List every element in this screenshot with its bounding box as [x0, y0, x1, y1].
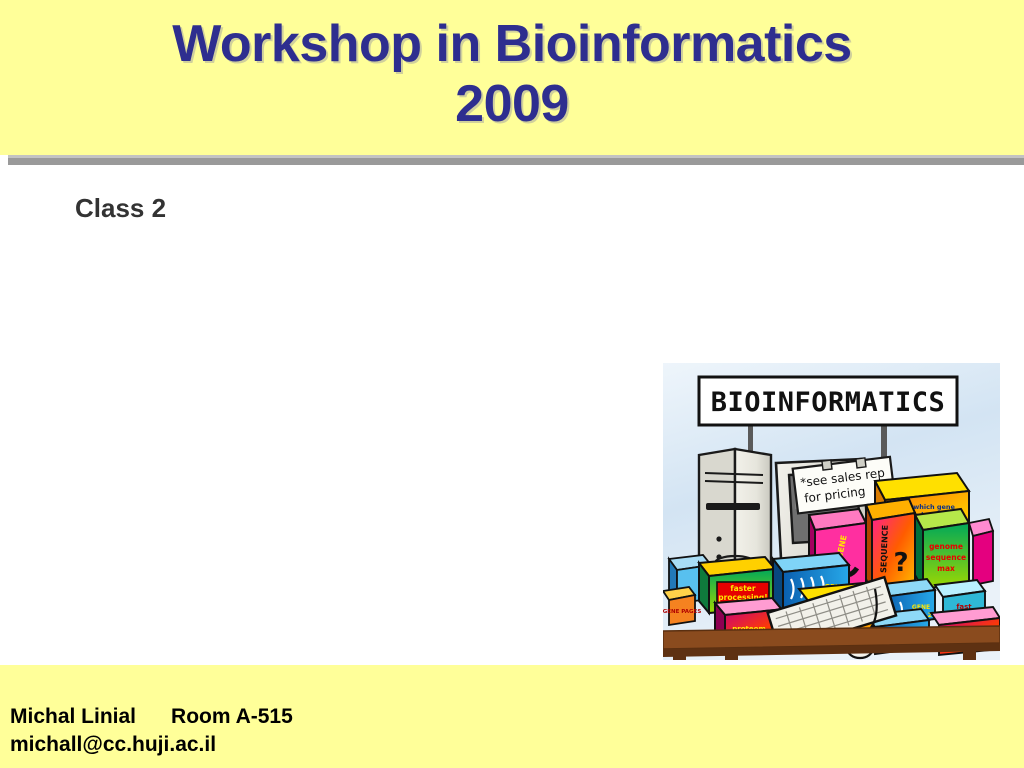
svg-text:max: max: [937, 564, 955, 573]
footer-presenter-and-room: Michal Linial Room A-515: [10, 705, 293, 729]
footer-band: Michal Linial Room A-515 michall@cc.huji…: [0, 665, 1024, 768]
bioinformatics-cartoon-image: BIOINFORMATICS: [663, 363, 1000, 660]
presentation-slide: Workshop in Bioinformatics 2009 Class 2: [0, 0, 1024, 768]
svg-text:genome: genome: [929, 542, 963, 551]
svg-text:?: ?: [893, 548, 908, 578]
title-line-2: 2009: [0, 74, 1024, 134]
svg-text:SEQUENCE: SEQUENCE: [879, 525, 890, 573]
title-divider: [8, 155, 1024, 165]
svg-text:sequence: sequence: [926, 553, 966, 562]
page-title: Workshop in Bioinformatics 2009: [0, 14, 1024, 134]
bioinformatics-sign: BIOINFORMATICS: [699, 377, 957, 425]
footer-email: michall@cc.huji.ac.il: [10, 733, 216, 757]
sign-text: BIOINFORMATICS: [711, 387, 946, 418]
class-label: Class 2: [75, 193, 166, 224]
title-band: Workshop in Bioinformatics 2009: [0, 0, 1024, 155]
svg-text:GENE PAGES: GENE PAGES: [663, 609, 701, 615]
svg-text:faster: faster: [730, 584, 755, 593]
title-line-1: Workshop in Bioinformatics: [172, 15, 851, 73]
computer-tower: [699, 449, 771, 575]
